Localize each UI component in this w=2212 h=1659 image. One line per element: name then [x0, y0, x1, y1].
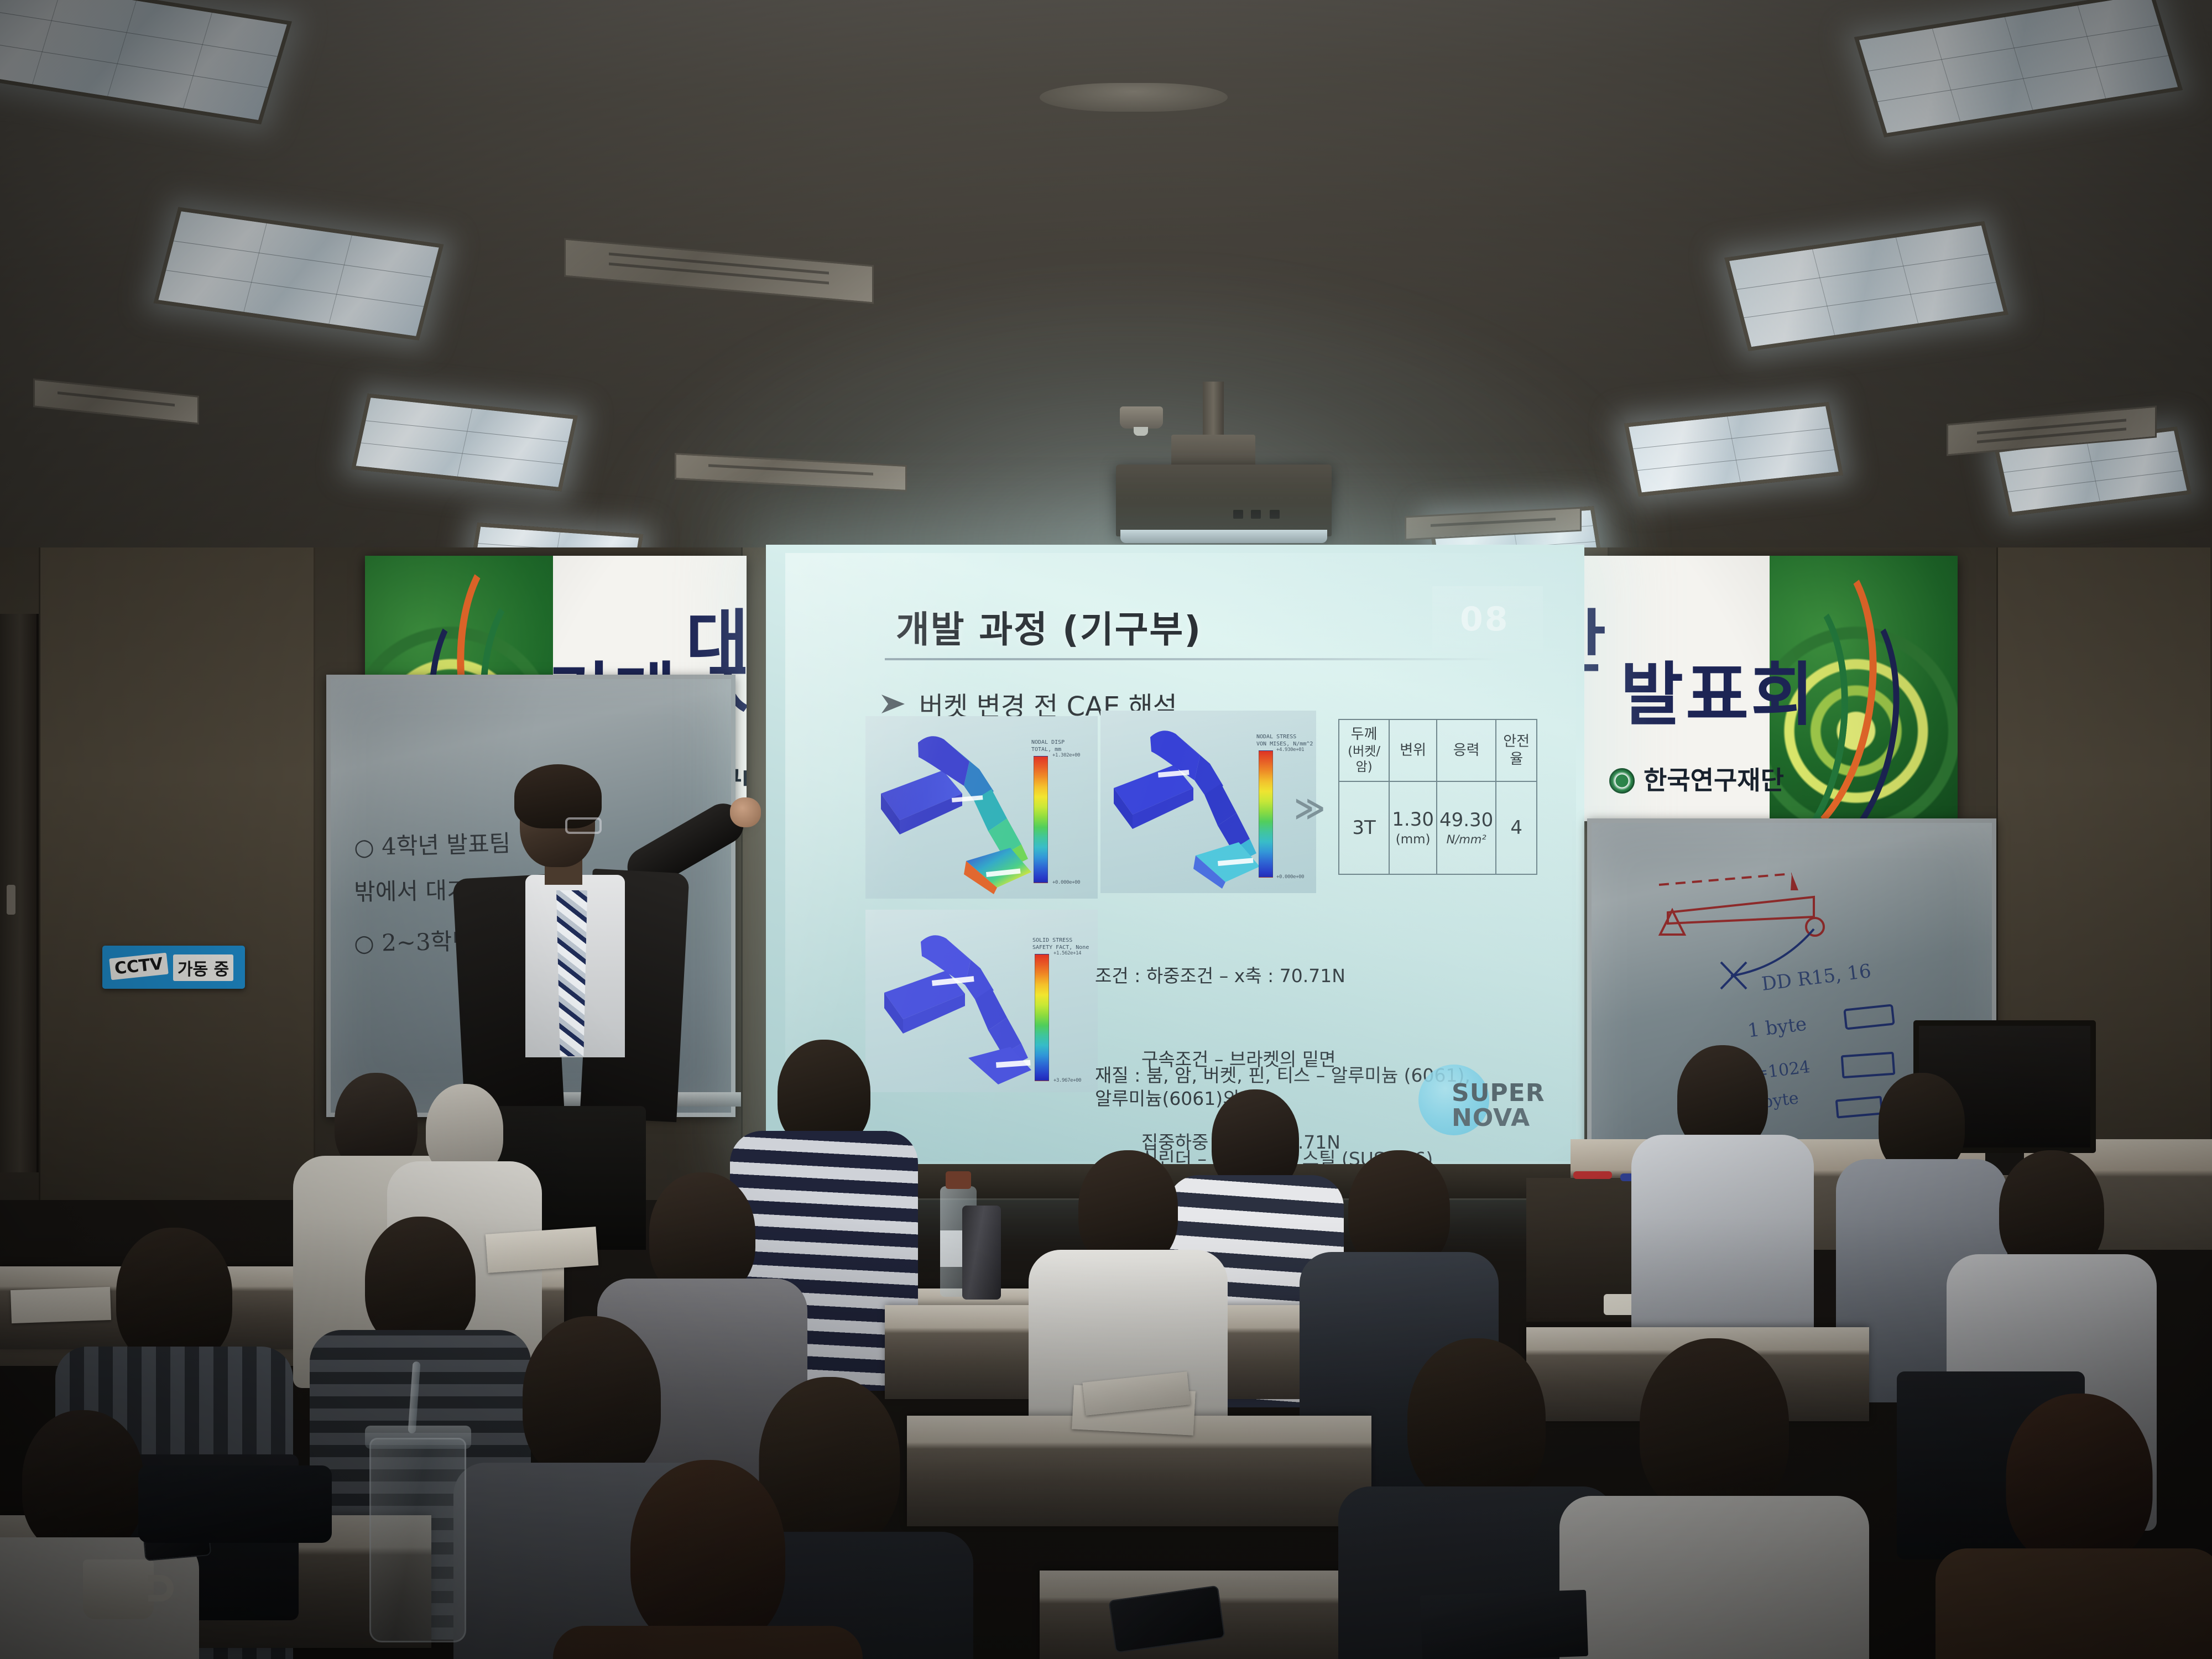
slide-page-number: 08 — [1460, 600, 1510, 639]
td-stress-value: 49.30 — [1439, 809, 1493, 831]
cctv-sign-label-ko: 가동 중 — [173, 954, 233, 981]
banner-right: 발표회 한국연구재단 — [1576, 556, 1958, 821]
bottle-cap — [946, 1171, 971, 1189]
legend-colorbar-safety — [1035, 954, 1049, 1081]
paper-sheet[interactable] — [486, 1227, 598, 1273]
person-head — [116, 1228, 232, 1365]
legend-max-safety: +1.562e+14 — [1053, 951, 1081, 956]
tumbler-lid — [365, 1426, 471, 1449]
td-displacement-value: 1.30 — [1392, 808, 1434, 831]
small-object-on-desk — [1604, 1294, 1635, 1315]
audience-person — [1936, 1394, 2212, 1659]
legend-subtitle-stress: VON MISES, N/mm^2 — [1256, 741, 1313, 747]
projector-port — [1270, 510, 1280, 519]
room-door[interactable] — [0, 614, 39, 1172]
mug-handle — [148, 1575, 174, 1601]
condition-line-1: 조건 : 하중조건 – x축 : 70.71N — [1095, 962, 1345, 990]
tumbler-with-straw[interactable] — [369, 1438, 466, 1642]
double-chevron-right-icon: ≫ — [1294, 791, 1320, 826]
arrow-bullet-icon — [879, 692, 907, 716]
person-body — [1559, 1496, 1869, 1659]
desk-marker-red[interactable] — [1573, 1171, 1612, 1179]
presenter-necktie — [556, 890, 587, 1056]
legend-title-stress: NODAL STRESS — [1256, 734, 1296, 740]
td-stress: 49.30 N/mm² — [1437, 781, 1496, 874]
eyeglasses-icon — [565, 817, 602, 834]
legend-subtitle-safety: SAFETY FACT, None — [1032, 945, 1089, 951]
presenter-hand — [730, 797, 761, 827]
th-thickness-sub: (버켓/암) — [1342, 744, 1386, 776]
legend-min-stress: +0.000e+00 — [1276, 874, 1304, 880]
td-displacement: 1.30 (mm) — [1389, 781, 1437, 874]
logo-word-nova: NOVA — [1452, 1106, 1545, 1131]
person-head — [2006, 1394, 2153, 1565]
door-handle[interactable] — [7, 885, 15, 915]
legend-min-safety: +3.967e+00 — [1053, 1078, 1081, 1083]
bag-on-desk — [138, 1465, 332, 1543]
legend-title-safety: SOLID STRESS — [1032, 937, 1072, 943]
projector-port — [1251, 510, 1261, 519]
banner-right-host-name: 한국연구재단 — [1644, 765, 1784, 795]
table-header-row: 두께 (버켓/암) 변위 응력 안전율 — [1339, 719, 1537, 781]
legend-colorbar-stress — [1259, 750, 1273, 878]
cae-figure-stress: NODAL STRESS VON MISES, N/mm^2 +4.930e+0… — [1100, 711, 1316, 893]
smoke-detector — [1040, 83, 1228, 112]
slide-title: 개발 과정 (기구부) — [896, 600, 1202, 653]
legend-colorbar-displacement — [1034, 756, 1048, 883]
td-displacement-unit: (mm) — [1392, 832, 1434, 848]
person-head — [22, 1410, 144, 1554]
logo-word-super: SUPER — [1452, 1081, 1545, 1106]
notebook[interactable] — [11, 1287, 111, 1323]
th-displacement: 변위 — [1389, 719, 1437, 781]
person-head — [630, 1460, 785, 1648]
audience-person — [1559, 1338, 1869, 1659]
cctv-sign-label-en: CCTV — [109, 953, 168, 980]
person-body — [1936, 1548, 2212, 1659]
slide-title-rule — [885, 658, 1499, 660]
banner-left-overflow-char: 대 — [686, 586, 749, 686]
person-head — [1640, 1338, 1789, 1515]
lecture-hall-scene: 기계·자 주최 : 대구대 대 발표회 한국연구재단 단 ○ 4학년 발표팀 밖… — [0, 0, 2212, 1659]
legend-max-stress: +4.930e+01 — [1276, 747, 1304, 753]
whiteboard-lever-sketch — [1648, 852, 1958, 1029]
table-row: 3T 1.30 (mm) 49.30 N/mm² 4 — [1339, 781, 1537, 874]
legend-max-displacement: +1.302e+00 — [1052, 753, 1080, 758]
audience-person — [553, 1460, 863, 1659]
legend-min-displacement: +0.000e+00 — [1052, 880, 1080, 885]
th-thickness-main: 두께 — [1351, 726, 1378, 743]
th-thickness: 두께 (버켓/암) — [1339, 719, 1389, 781]
laptop[interactable] — [1420, 1590, 1588, 1659]
person-body — [553, 1626, 863, 1659]
th-safety: 안전율 — [1496, 719, 1537, 781]
banner-right-host: 한국연구재단 — [1609, 760, 1784, 797]
cctv-sign: CCTV 가동 중 — [102, 946, 245, 989]
supernova-logo-text: SUPER NOVA — [1452, 1081, 1545, 1131]
fire-sprinkler — [1120, 406, 1163, 429]
ceiling-projector — [1116, 465, 1332, 536]
sprinkler-head-icon — [1134, 427, 1148, 436]
legend-subtitle-displacement: TOTAL, mm — [1031, 747, 1061, 753]
cae-figure-displacement: NODAL DISP TOTAL, mm +1.302e+00 +0.000e+… — [865, 716, 1098, 899]
td-stress-unit: N/mm² — [1439, 832, 1493, 847]
banner-right-title: 발표회 — [1620, 639, 1816, 738]
th-stress: 응력 — [1437, 719, 1496, 781]
person-head — [523, 1316, 661, 1482]
nrf-seal-icon — [1609, 768, 1635, 794]
projector-port — [1233, 510, 1243, 519]
td-thickness: 3T — [1339, 781, 1389, 874]
person-head — [1407, 1338, 1546, 1504]
cae-results-table: 두께 (버켓/암) 변위 응력 안전율 3T 1.30 (mm) 49.30 N… — [1338, 719, 1537, 875]
legend-title-displacement: NODAL DISP — [1031, 739, 1065, 745]
thermos[interactable] — [962, 1206, 1001, 1300]
wall-panel — [39, 547, 315, 1200]
projector-mount-pole — [1203, 382, 1224, 442]
coffee-mug[interactable] — [83, 1559, 154, 1619]
td-safety: 4 — [1496, 781, 1537, 874]
projector-lens-housing — [1120, 530, 1327, 543]
